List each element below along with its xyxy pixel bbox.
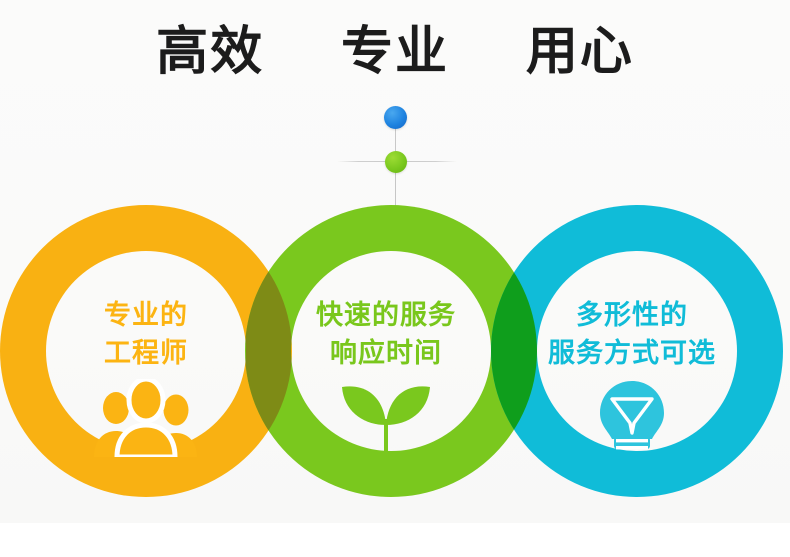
venn-rings — [0, 0, 790, 557]
circle-response-line-2: 响应时间 — [266, 334, 506, 372]
circle-content-engineers: 专业的 工程师 — [26, 296, 266, 457]
circle-engineers-line-1: 专业的 — [26, 296, 266, 334]
circle-content-flexible: 多形性的 服务方式可选 — [512, 296, 752, 457]
lightbulb-icon — [512, 379, 752, 457]
circle-engineers-line-2: 工程师 — [26, 334, 266, 372]
sprout-leaf-icon — [266, 379, 506, 457]
circle-content-response: 快速的服务 响应时间 — [266, 296, 506, 457]
people-group-icon — [26, 379, 266, 457]
infographic-stage: 高效 专业 用心 — [0, 0, 790, 557]
circle-flexible-line-2: 服务方式可选 — [512, 334, 752, 372]
overlap-green-cyan — [0, 0, 790, 557]
circle-flexible-line-1: 多形性的 — [512, 296, 752, 334]
circle-response-line-1: 快速的服务 — [266, 296, 506, 334]
